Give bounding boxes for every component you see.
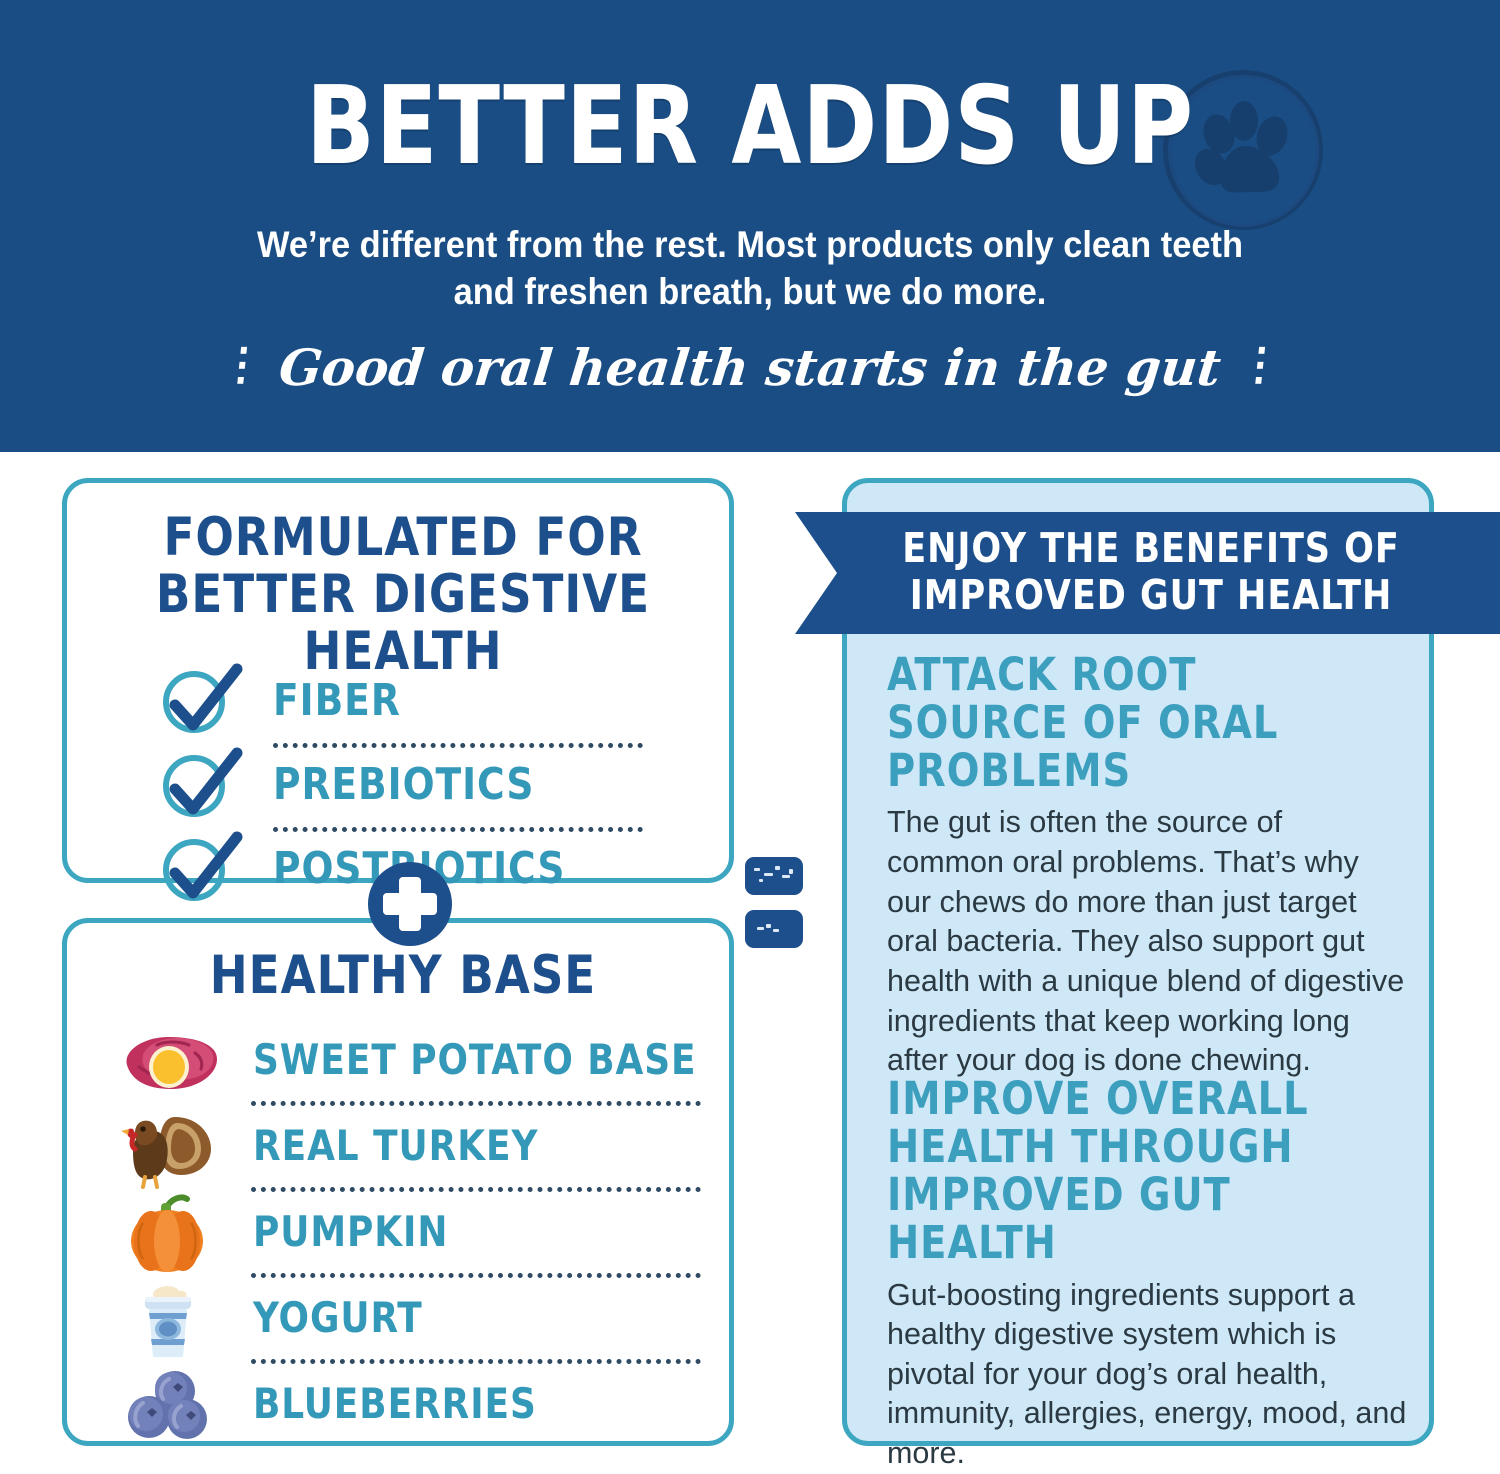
benefit-section-1: ATTACK ROOT SOURCE OF ORAL PROBLEMS The … bbox=[887, 651, 1407, 1081]
list-item-label: BLUEBERRIES bbox=[253, 1379, 537, 1428]
tagline-deco-right: ⋮ bbox=[1236, 339, 1283, 390]
list-item: PUMPKIN bbox=[67, 1191, 739, 1277]
list-item: SWEET POTATO BASE bbox=[67, 1019, 739, 1105]
base-items-list: SWEET POTATO BASE REAL TURKEY bbox=[67, 1019, 739, 1449]
tagline-deco-left: ⋮ bbox=[218, 339, 265, 390]
plus-icon bbox=[368, 862, 452, 946]
yogurt-cup-icon bbox=[113, 1279, 221, 1361]
list-item: YOGURT bbox=[67, 1277, 739, 1363]
check-icon bbox=[161, 829, 251, 915]
healthy-base-card: HEALTHY BASE SWEET POTATO BASE bbox=[62, 918, 734, 1446]
list-item-label: YOGURT bbox=[253, 1293, 423, 1342]
blueberries-icon bbox=[113, 1365, 221, 1447]
equals-icon-bottom bbox=[745, 910, 803, 948]
list-item-label: PUMPKIN bbox=[253, 1207, 448, 1256]
header-banner: BETTER ADDS UP We’re different from the … bbox=[0, 0, 1500, 452]
pumpkin-icon bbox=[113, 1193, 221, 1275]
benefit-section-2: IMPROVE OVERALL HEALTH THROUGH IMPROVED … bbox=[887, 1075, 1415, 1474]
healthy-base-card-title: HEALTHY BASE bbox=[107, 945, 700, 1006]
tagline-text: Good oral health starts in the gut bbox=[276, 338, 1223, 397]
benefit-section-2-heading: IMPROVE OVERALL HEALTH THROUGH IMPROVED … bbox=[887, 1075, 1389, 1268]
sweet-potato-icon bbox=[113, 1021, 221, 1103]
list-item-label: REAL TURKEY bbox=[253, 1121, 538, 1170]
formulated-card: FORMULATED FOR BETTER DIGESTIVE HEALTH F… bbox=[62, 478, 734, 883]
list-item: REAL TURKEY bbox=[67, 1105, 739, 1191]
list-item: FIBER bbox=[103, 663, 703, 747]
list-item: BLUEBERRIES bbox=[67, 1363, 739, 1449]
benefits-ribbon-title: ENJOY THE BENEFITS OF IMPROVED GUT HEALT… bbox=[866, 525, 1436, 619]
benefit-section-1-heading: ATTACK ROOT SOURCE OF ORAL PROBLEMS bbox=[887, 651, 1381, 795]
header-subtitle: We’re different from the rest. Most prod… bbox=[248, 222, 1252, 316]
list-item-label: FIBER bbox=[273, 675, 401, 726]
list-item-label: SWEET POTATO BASE bbox=[253, 1035, 697, 1084]
check-icon bbox=[161, 745, 251, 831]
equals-icon-top bbox=[745, 857, 803, 895]
benefit-section-2-body: Gut-boosting ingredients support a healt… bbox=[887, 1276, 1415, 1474]
benefits-ribbon-banner: ENJOY THE BENEFITS OF IMPROVED GUT HEALT… bbox=[795, 512, 1500, 634]
check-icon bbox=[161, 661, 251, 747]
turkey-icon bbox=[113, 1107, 221, 1189]
list-item: PREBIOTICS bbox=[103, 747, 703, 831]
formulated-card-title: FORMULATED FOR BETTER DIGESTIVE HEALTH bbox=[107, 509, 700, 681]
benefit-section-1-body: The gut is often the source of common or… bbox=[887, 803, 1407, 1080]
header-tagline: ⋮ Good oral health starts in the gut ⋮ bbox=[0, 338, 1500, 397]
page-title: BETTER ADDS UP bbox=[53, 72, 1448, 182]
list-item-label: PREBIOTICS bbox=[273, 759, 534, 810]
